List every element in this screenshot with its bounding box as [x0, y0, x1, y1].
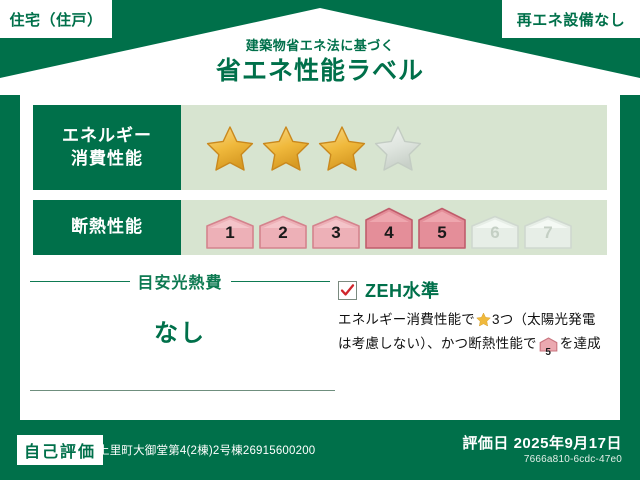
zeh-desc-stars: 3つ（太陽光発電	[492, 312, 596, 327]
energy-header-line1: エネルギー	[62, 125, 152, 148]
zeh-desc-part2: は考慮しない）、かつ断熱性能で	[338, 336, 537, 351]
insulation-level-5: 5	[417, 207, 467, 249]
insulation-level-number: 5	[417, 223, 467, 243]
insulation-level-number: 4	[364, 223, 414, 243]
star-rating	[205, 124, 423, 172]
building-type-tag: 住宅（住戸）	[0, 0, 112, 38]
inline-house-number: 5	[539, 347, 558, 359]
zeh-block: ZEH水準 エネルギー消費性能で 3つ（太陽光発電 は考慮しない）、かつ断熱性能…	[338, 277, 618, 359]
heading-rule-left	[30, 281, 130, 282]
inline-house-badge: 5	[539, 337, 558, 359]
label-body-card: エネルギー 消費性能 断熱性能 1234567 目安光熱費 なし	[20, 95, 620, 420]
energy-performance-label: 住宅（住戸） 再エネ設備なし 建築物省エネ法に基づく 省エネ性能ラベル エネルギ…	[0, 0, 640, 480]
heading-rule-right	[231, 281, 331, 282]
evaluation-date: 評価日 2025年9月17日	[462, 432, 622, 453]
self-evaluation-badge: 自己評価	[17, 435, 103, 465]
insulation-performance-body: 1234567	[181, 200, 607, 255]
insulation-level-1: 1	[205, 215, 255, 249]
insulation-level-number: 2	[258, 223, 308, 243]
page-title: 省エネ性能ラベル	[0, 56, 640, 87]
zeh-title-row: ZEH水準	[338, 277, 618, 303]
zeh-standard-label: ZEH水準	[365, 277, 440, 303]
star-filled-icon	[317, 124, 367, 172]
zeh-desc-part1: エネルギー消費性能で	[338, 312, 475, 327]
insulation-level-number: 1	[205, 223, 255, 243]
insulation-level-scale: 1234567	[205, 207, 573, 249]
star-empty-icon	[373, 124, 423, 172]
insulation-level-number: 6	[470, 223, 520, 243]
zeh-checkbox[interactable]	[338, 281, 357, 300]
utility-cost-value: なし	[30, 313, 330, 348]
zeh-description: エネルギー消費性能で 3つ（太陽光発電 は考慮しない）、かつ断熱性能で 5 を達…	[338, 310, 618, 359]
energy-performance-row: エネルギー 消費性能	[33, 105, 607, 190]
insulation-level-number: 7	[523, 223, 573, 243]
insulation-performance-header: 断熱性能	[33, 200, 181, 255]
star-filled-icon	[205, 124, 255, 172]
insulation-level-3: 3	[311, 215, 361, 249]
label-title-block: 建築物省エネ法に基づく 省エネ性能ラベル	[0, 38, 640, 87]
energy-header-line2: 消費性能	[71, 148, 143, 171]
zeh-desc-part3: を達成	[560, 336, 601, 351]
insulation-level-4: 4	[364, 207, 414, 249]
property-address: 上里町大御堂第4(2棟)2号棟26915600200	[98, 442, 315, 458]
check-icon	[340, 283, 355, 298]
star-filled-icon	[261, 124, 311, 172]
insulation-level-number: 3	[311, 223, 361, 243]
utility-cost-underline	[30, 390, 335, 391]
utility-cost-heading: 目安光熱費	[30, 269, 330, 293]
energy-performance-header: エネルギー 消費性能	[33, 105, 181, 190]
insulation-level-2: 2	[258, 215, 308, 249]
renewable-energy-tag: 再エネ設備なし	[502, 0, 640, 38]
inline-star-icon	[476, 312, 491, 334]
evaluation-id: 7666a810-6cdc-47e0	[524, 454, 622, 465]
lower-section: 目安光熱費 なし ZEH水準 エネルギー消費性能で	[20, 265, 620, 420]
utility-cost-label: 目安光熱費	[138, 269, 223, 293]
insulation-header-label: 断熱性能	[71, 216, 143, 239]
insulation-level-6: 6	[470, 215, 520, 249]
insulation-level-7: 7	[523, 215, 573, 249]
energy-performance-body	[181, 105, 607, 190]
label-footer: 自己評価 上里町大御堂第4(2棟)2号棟26915600200 評価日 2025…	[0, 420, 640, 480]
insulation-performance-row: 断熱性能 1234567	[33, 200, 607, 255]
title-subtitle: 建築物省エネ法に基づく	[0, 38, 640, 54]
